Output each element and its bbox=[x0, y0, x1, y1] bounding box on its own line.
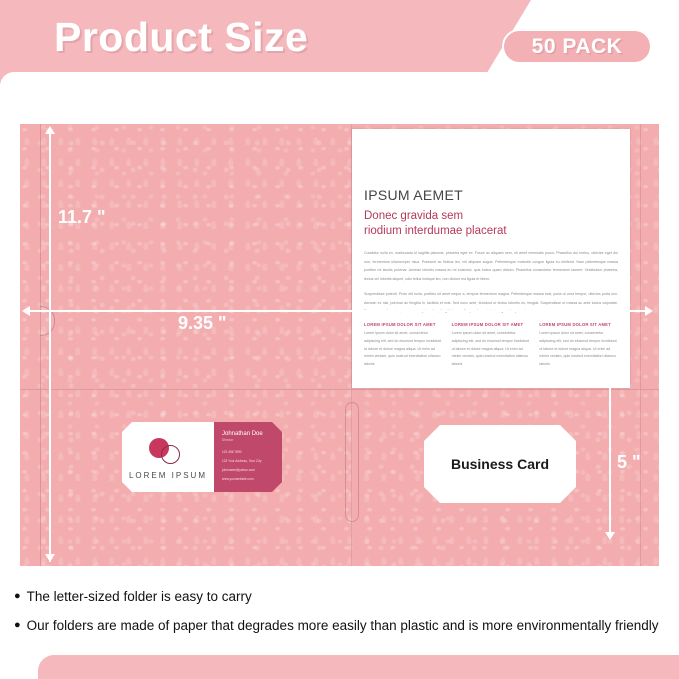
logo-outline-circle bbox=[161, 445, 180, 464]
height-dimension-arrow-bottom bbox=[45, 554, 55, 562]
pack-badge-label: 50 PACK bbox=[532, 35, 623, 59]
header-base-shape bbox=[0, 72, 679, 86]
width-dimension-arrow-right bbox=[645, 306, 653, 316]
page-header: Product Size 50 PACK bbox=[0, 0, 679, 86]
business-card-front: LOREM IPSUM bbox=[122, 422, 214, 492]
document-column-body: Lorem ipsum dolor sit amet, consectetur … bbox=[452, 330, 531, 368]
folder-center-slot bbox=[345, 402, 359, 522]
document-column: LOREM IPSUM DOLOR SIT AMET Lorem ipsum d… bbox=[539, 322, 618, 368]
business-card-name: Johnathan Doe bbox=[222, 431, 275, 437]
document-subtitle: Donec gravida sem riodium interdumae pla… bbox=[364, 209, 618, 239]
width-dimension-label: 9.35 " bbox=[178, 313, 227, 334]
folder-right-spine bbox=[640, 124, 641, 566]
bullet-dot-icon: ● bbox=[14, 588, 21, 605]
business-card-slot: Business Card bbox=[424, 425, 576, 503]
list-item: ● Our folders are made of paper that deg… bbox=[14, 617, 674, 634]
business-card-slot-label: Business Card bbox=[451, 456, 549, 472]
document-column-heading: LOREM IPSUM DOLOR SIT AMET bbox=[539, 322, 618, 327]
circles-logo-icon bbox=[149, 438, 183, 462]
bullet-dot-icon: ● bbox=[14, 617, 21, 634]
business-card-back: Johnathan Doe Director 123 456 7890 123 … bbox=[214, 422, 282, 492]
document-column-heading: LOREM IPSUM DOLOR SIT AMET bbox=[452, 322, 531, 327]
pocket-depth-dimension-line bbox=[609, 382, 611, 536]
business-card-brand: LOREM IPSUM bbox=[122, 471, 214, 480]
business-card-email: johnname@yahoo.com bbox=[222, 468, 275, 472]
document-page: IPSUM AEMET Donec gravida sem riodium in… bbox=[352, 129, 630, 388]
pocket-depth-dimension-arrow bbox=[605, 532, 615, 540]
document-subtitle-line-1: Donec gravida sem bbox=[364, 209, 618, 224]
width-dimension-line bbox=[26, 310, 649, 312]
height-dimension-label: 11.7 " bbox=[58, 207, 106, 228]
bullet-text: Our folders are made of paper that degra… bbox=[27, 617, 659, 634]
document-title: IPSUM AEMET bbox=[364, 187, 618, 203]
business-card-role: Director bbox=[222, 438, 275, 442]
document-subtitle-line-2: riodium interdumae placerat bbox=[364, 224, 618, 239]
height-dimension-line bbox=[49, 128, 51, 562]
business-card-website: www.yourwebsite.com bbox=[222, 477, 275, 481]
feature-bullet-list: ● The letter-sized folder is easy to car… bbox=[14, 588, 674, 646]
document-column-heading: LOREM IPSUM DOLOR SIT AMET bbox=[364, 322, 443, 327]
page-title: Product Size bbox=[54, 14, 308, 61]
folder-pocket-edge bbox=[20, 389, 659, 390]
folder-left-spine bbox=[40, 124, 41, 566]
bullet-text: The letter-sized folder is easy to carry bbox=[27, 588, 252, 605]
document-column: LOREM IPSUM DOLOR SIT AMET Lorem ipsum d… bbox=[452, 322, 531, 368]
business-card-phone: 123 456 7890 bbox=[222, 450, 275, 454]
document-columns: LOREM IPSUM DOLOR SIT AMET Lorem ipsum d… bbox=[364, 322, 618, 368]
pocket-depth-dimension-label: 5 " bbox=[617, 452, 641, 473]
document-column-body: Lorem ipsum dolor sit amet, consectetur … bbox=[364, 330, 443, 368]
document-paragraph-1: Curabitur nulla ex, malesuada id sagitti… bbox=[364, 249, 618, 283]
document-paragraph-2: Suspendisse potenti. Proin elit nulla, p… bbox=[364, 290, 618, 315]
document-column-body: Lorem ipsum dolor sit amet, consectetur … bbox=[539, 330, 618, 368]
footer-bar bbox=[38, 655, 679, 679]
business-card-sample: LOREM IPSUM Johnathan Doe Director 123 4… bbox=[122, 422, 282, 492]
list-item: ● The letter-sized folder is easy to car… bbox=[14, 588, 674, 605]
document-column: LOREM IPSUM DOLOR SIT AMET Lorem ipsum d… bbox=[364, 322, 443, 368]
pack-quantity-badge: 50 PACK bbox=[502, 29, 652, 64]
business-card-address: 123 Your Address, Your City bbox=[222, 459, 275, 463]
